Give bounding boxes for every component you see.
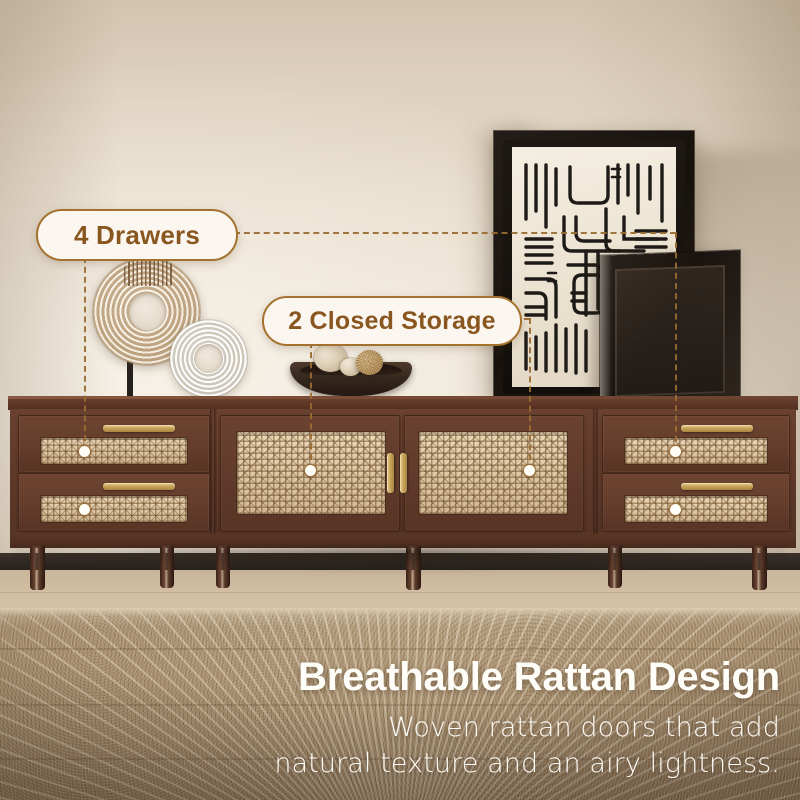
- cabinet-floor-shadow: [14, 548, 786, 574]
- art-small-glass-edge: [600, 255, 612, 407]
- rattan-panel: [625, 496, 767, 522]
- ring-hole-large: [129, 293, 166, 331]
- product-lifestyle-scene: 4 Drawers 2 Closed Storage Breathable Ra…: [0, 0, 800, 800]
- drawer-handle[interactable]: [103, 483, 175, 490]
- callout-dot-drawer-left-bottom: [79, 504, 90, 515]
- caption-subline-1: Woven rattan doors that add: [388, 712, 780, 743]
- rattan-panel: [419, 432, 567, 514]
- caption-headline: Breathable Rattan Design: [298, 655, 780, 700]
- callout-badge-drawers[interactable]: 4 Drawers: [36, 209, 238, 261]
- orb-woven: [356, 350, 383, 375]
- rattan-panel: [625, 438, 767, 464]
- door-handle-right[interactable]: [400, 453, 407, 493]
- callout-dot-drawer-left-top: [79, 446, 90, 457]
- callout-line-storage-right-down: [529, 318, 531, 470]
- callout-line-storage-down: [310, 342, 312, 470]
- callout-dot-drawer-right-top: [670, 446, 681, 457]
- callout-dot-door-left: [305, 465, 316, 476]
- drawer-handle[interactable]: [103, 425, 175, 432]
- drawer-bottom-right[interactable]: [602, 473, 790, 531]
- callout-line-drawers-right: [234, 232, 676, 234]
- callout-dot-door-right: [524, 465, 535, 476]
- drawer-handle[interactable]: [681, 483, 753, 490]
- callout-dot-drawer-right-bottom: [670, 504, 681, 515]
- ring-hole-small: [194, 344, 223, 373]
- caption-subline-2: natural texture and an airy lightness.: [274, 748, 780, 779]
- callout-line-drawers-right-down: [675, 232, 677, 452]
- center-cabinet-doors: [214, 409, 596, 534]
- cabinet-door-right[interactable]: [404, 415, 584, 531]
- art-small-interior: [615, 265, 725, 397]
- drawer-bottom-left[interactable]: [18, 473, 210, 531]
- framed-art-small: [600, 250, 740, 407]
- door-handle-left[interactable]: [387, 453, 394, 493]
- drawer-handle[interactable]: [681, 425, 753, 432]
- rattan-panel: [41, 438, 187, 464]
- callout-line-drawers-down: [84, 257, 86, 451]
- callout-badge-drawers-label: 4 Drawers: [74, 220, 200, 251]
- drawer-top-right[interactable]: [602, 415, 790, 473]
- left-drawer-bank: [12, 409, 214, 534]
- callout-badge-storage-label: 2 Closed Storage: [288, 307, 495, 336]
- right-drawer-bank: [596, 409, 794, 534]
- rattan-panel: [41, 496, 187, 522]
- cabinet-plinth: [10, 532, 796, 548]
- callout-badge-storage[interactable]: 2 Closed Storage: [262, 296, 522, 346]
- ring-comb-detail: [124, 258, 174, 286]
- cabinet-top-surface: [8, 396, 798, 410]
- drawer-top-left[interactable]: [18, 415, 210, 473]
